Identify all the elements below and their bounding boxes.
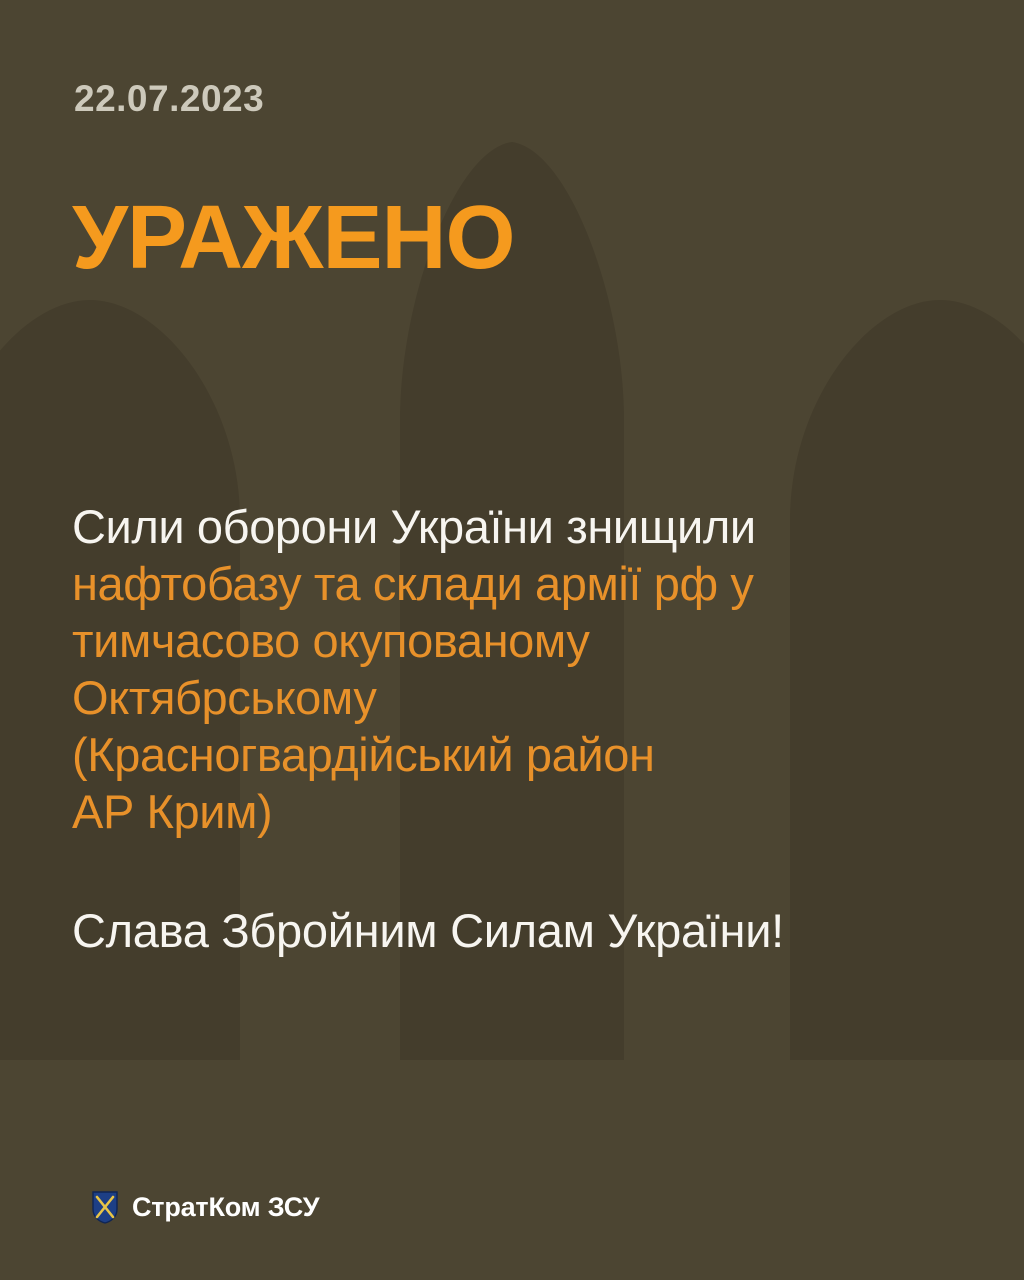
body-line: тимчасово окупованому [72,612,990,669]
brand-name-label: СтратКом ЗСУ [132,1192,319,1223]
poster-root: 22.07.2023 УРАЖЕНО Сили оборони України … [0,0,1024,1280]
body-line: нафтобазу та склади армії рф у [72,555,990,612]
body-line: (Красногвардійський район [72,726,990,783]
closing-slogan: Слава Збройним Силам України! [72,902,784,959]
body-line: АР Крим) [72,783,990,840]
page-title: УРАЖЕНО [72,196,514,282]
body-line: Сили оборони України знищили [72,498,990,555]
date-label: 22.07.2023 [74,78,264,120]
brand-footer: СтратКом ЗСУ [92,1191,319,1224]
shield-crossed-swords-icon [92,1191,118,1224]
poster-content: 22.07.2023 УРАЖЕНО Сили оборони України … [0,0,1024,1280]
body-text: Сили оборони України знищили нафтобазу т… [72,498,990,840]
body-line: Октябрському [72,669,990,726]
